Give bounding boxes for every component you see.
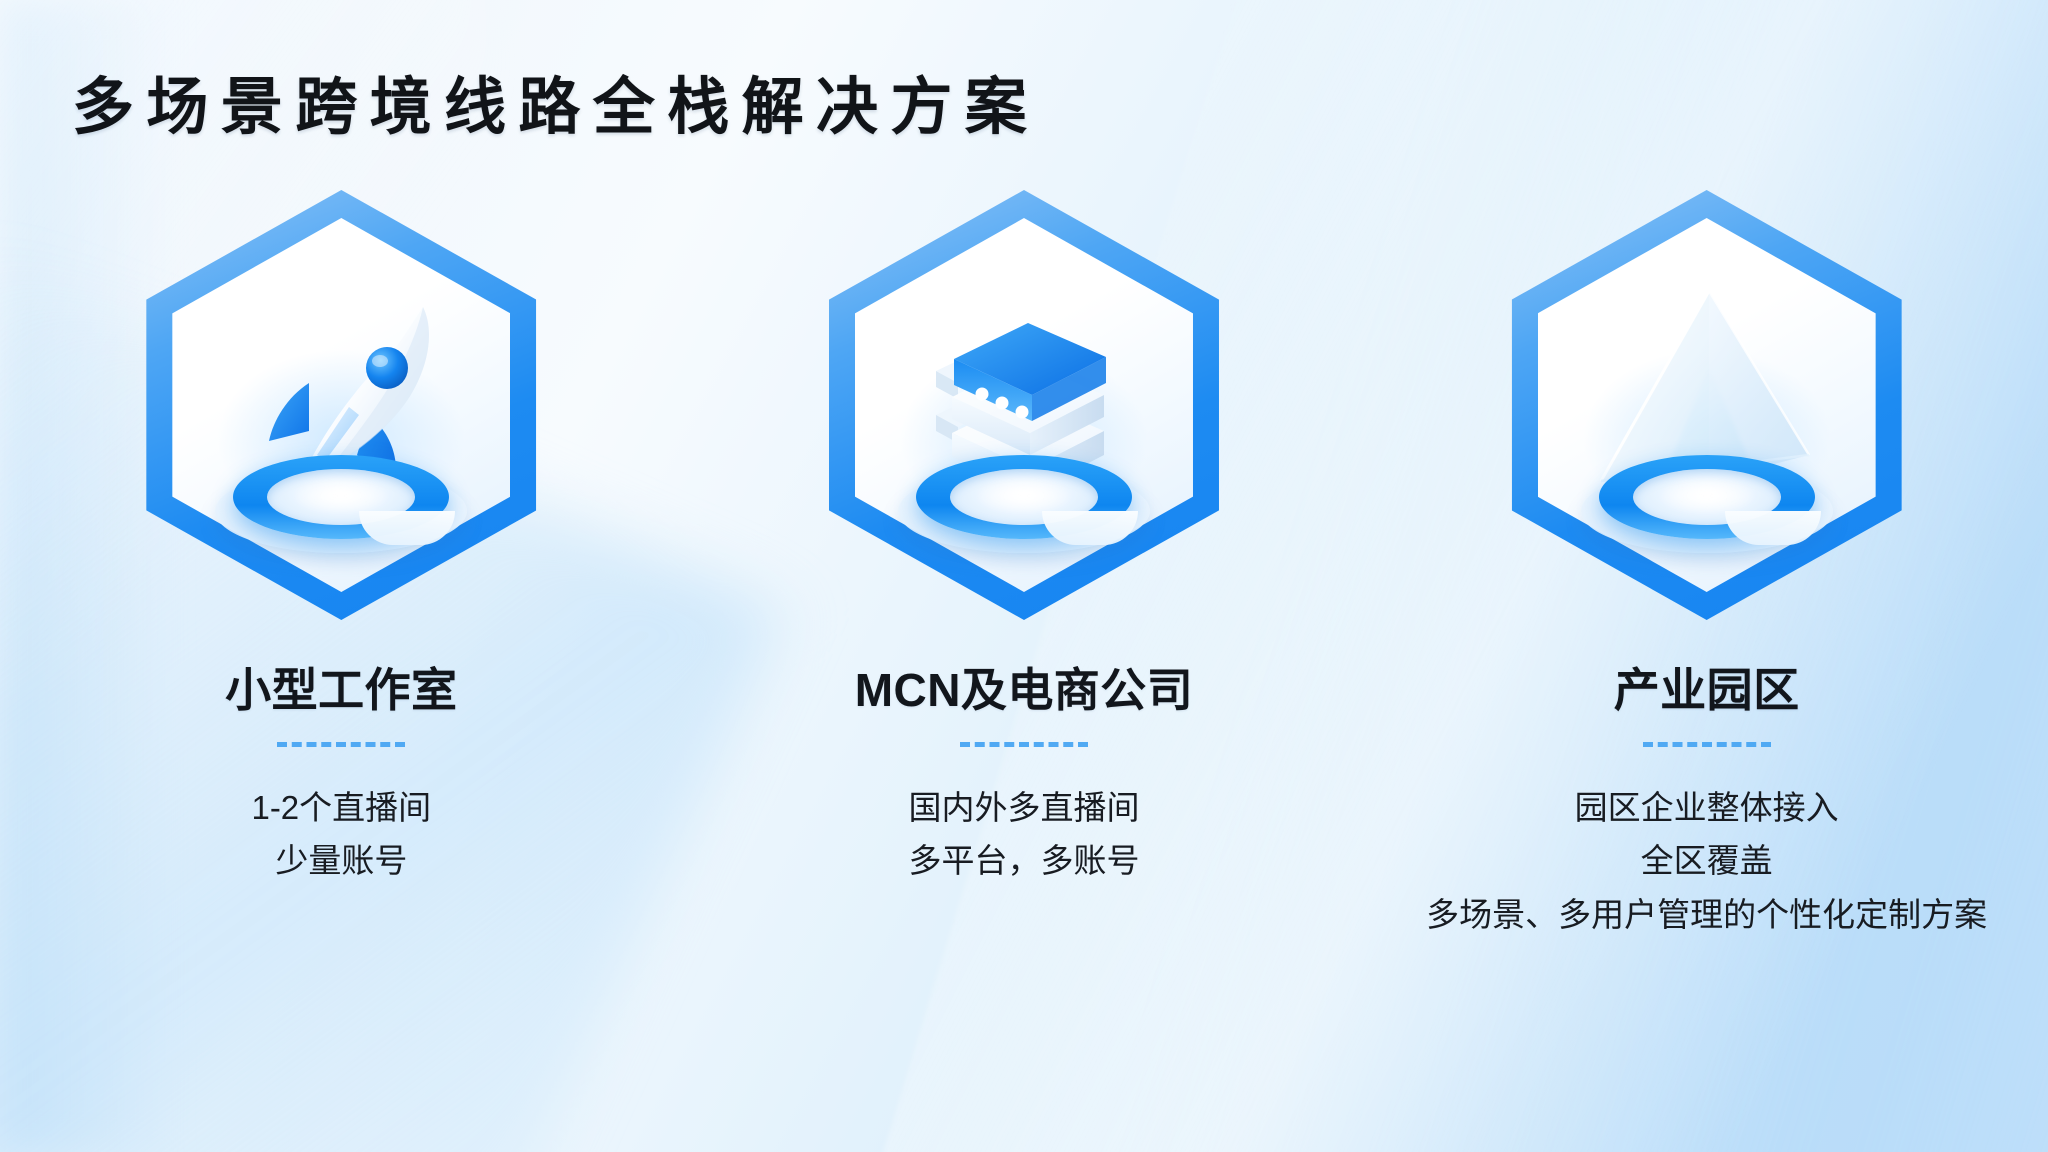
hexagon-badge — [1512, 190, 1902, 620]
rocket-icon — [191, 255, 491, 555]
card-title: MCN及电商公司 — [855, 654, 1193, 720]
hexagon-badge — [146, 190, 536, 620]
card-description-line: 多场景、多用户管理的个性化定制方案 — [1426, 888, 1987, 941]
card-title: 小型工作室 — [225, 654, 457, 720]
server-stack-icon — [874, 255, 1174, 555]
card-description-line: 园区企业整体接入 — [1426, 781, 1987, 834]
page-title: 多场景跨境线路全栈解决方案 — [72, 56, 1039, 146]
card-description: 1-2个直播间 少量账号 — [251, 781, 431, 888]
card-mcn-ecommerce[interactable]: MCN及电商公司 国内外多直播间 多平台，多账号 — [704, 190, 1344, 888]
card-description-line: 国内外多直播间 — [908, 781, 1139, 834]
card-description-line: 全区覆盖 — [1426, 834, 1987, 887]
glow-pedestal — [1599, 455, 1815, 541]
glow-pedestal — [233, 455, 449, 541]
card-description-line: 1-2个直播间 — [251, 781, 431, 834]
card-description: 国内外多直播间 多平台，多账号 — [908, 781, 1139, 888]
glow-pedestal — [916, 455, 1132, 541]
pyramid-icon — [1557, 255, 1857, 555]
slide-canvas: 多场景跨境线路全栈解决方案 — [0, 0, 2048, 1152]
card-description-line: 多平台，多账号 — [908, 834, 1139, 887]
card-description-line: 少量账号 — [251, 834, 431, 887]
card-divider — [1643, 742, 1771, 747]
card-description: 园区企业整体接入 全区覆盖 多场景、多用户管理的个性化定制方案 — [1426, 781, 1987, 941]
card-title: 产业园区 — [1614, 654, 1800, 720]
card-list: 小型工作室 1-2个直播间 少量账号 — [0, 190, 2048, 941]
card-divider — [960, 742, 1088, 747]
card-divider — [277, 742, 405, 747]
hexagon-badge — [829, 190, 1219, 620]
card-small-studio[interactable]: 小型工作室 1-2个直播间 少量账号 — [21, 190, 661, 888]
card-industrial-park[interactable]: 产业园区 园区企业整体接入 全区覆盖 多场景、多用户管理的个性化定制方案 — [1387, 190, 2027, 941]
